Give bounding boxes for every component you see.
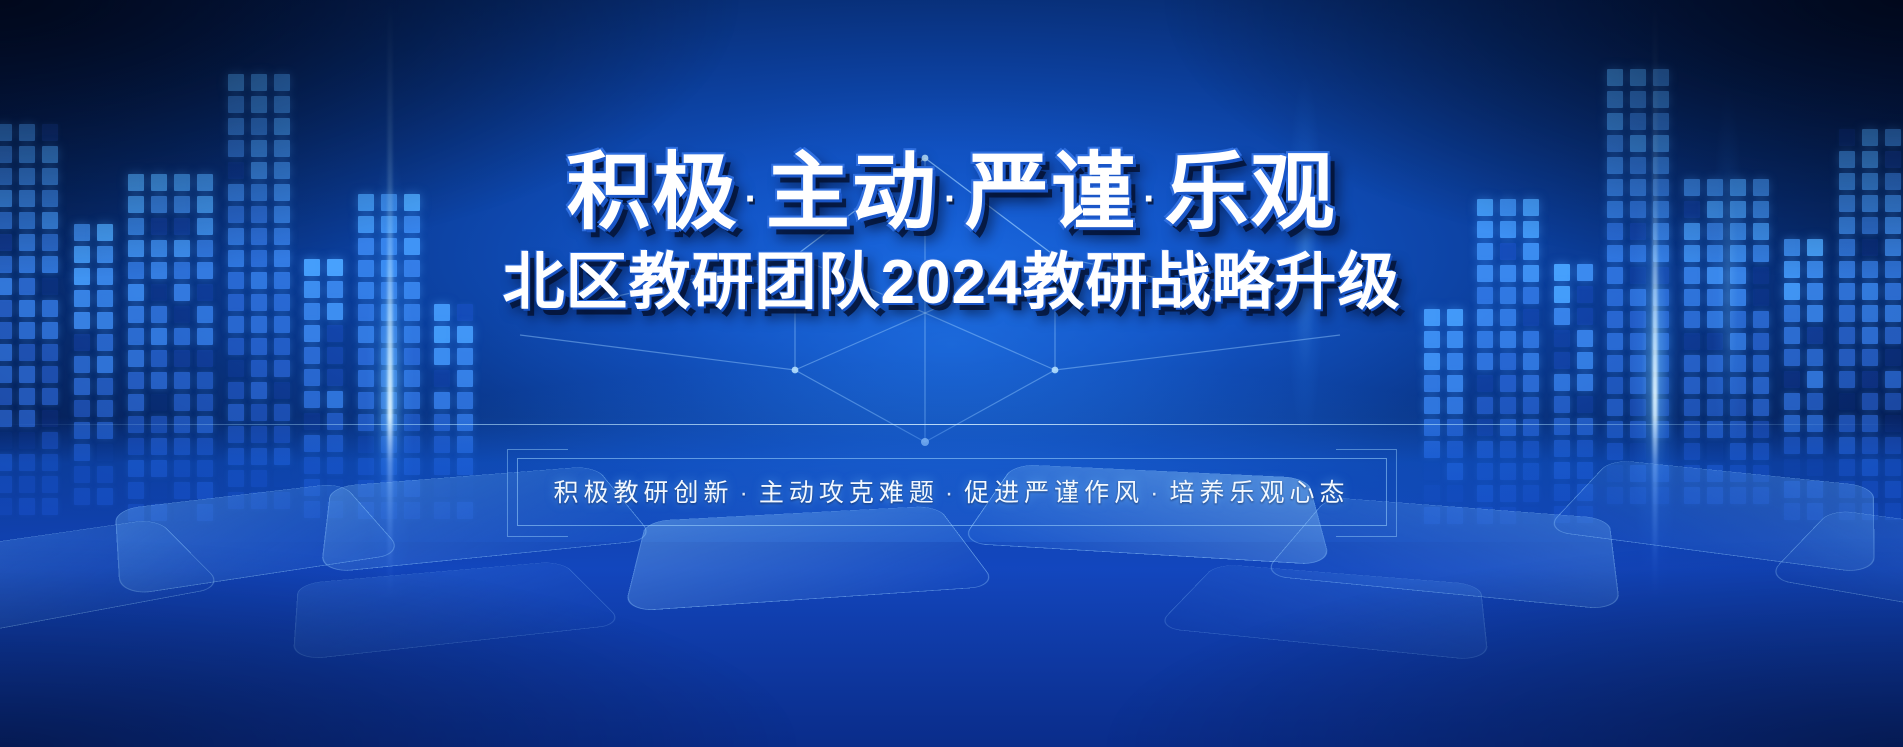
building-window <box>1653 399 1669 416</box>
building-window <box>1885 503 1901 520</box>
building-window <box>251 404 267 421</box>
building-window <box>1730 377 1746 394</box>
building-window <box>0 410 12 427</box>
building-window <box>174 416 190 433</box>
building-window <box>1607 113 1623 130</box>
building-window <box>251 74 267 91</box>
building-window <box>1477 485 1493 502</box>
building-window <box>197 394 213 411</box>
building-window <box>174 460 190 477</box>
building-window <box>1784 503 1800 520</box>
building-window <box>1523 463 1539 480</box>
building-window <box>1630 333 1646 350</box>
building-window <box>1862 503 1878 520</box>
building-window <box>1807 327 1823 344</box>
building-window <box>1862 129 1878 146</box>
building-window <box>251 360 267 377</box>
building-window <box>1862 481 1878 498</box>
building-window <box>97 356 113 373</box>
building-window <box>1730 443 1746 460</box>
building-window <box>1554 440 1570 457</box>
building-window <box>327 435 343 452</box>
building-window <box>1607 465 1623 482</box>
building-window <box>197 460 213 477</box>
building-window <box>1684 355 1700 372</box>
building-window <box>1730 399 1746 416</box>
building-window <box>19 432 35 449</box>
building-window <box>404 392 420 409</box>
building-window <box>228 448 244 465</box>
building-window <box>327 501 343 518</box>
building-window <box>151 328 167 345</box>
building-window <box>1730 487 1746 504</box>
building-window <box>1807 503 1823 520</box>
building-window <box>1653 69 1669 86</box>
building-window <box>0 432 12 449</box>
building-window <box>151 416 167 433</box>
floor-tile <box>293 561 626 661</box>
building-window <box>128 328 144 345</box>
building-window <box>381 436 397 453</box>
building-window <box>1630 113 1646 130</box>
building-window <box>1707 421 1723 438</box>
building-window <box>1500 441 1516 458</box>
building-window <box>174 482 190 499</box>
building-window <box>1653 91 1669 108</box>
building-window <box>1839 437 1855 454</box>
building-window <box>434 414 450 431</box>
building-window <box>0 498 12 515</box>
building-window <box>404 480 420 497</box>
building-window <box>304 369 320 386</box>
building-window <box>151 350 167 367</box>
building-window <box>0 454 12 471</box>
building-window <box>1554 330 1570 347</box>
building-window <box>1630 355 1646 372</box>
building-window <box>1447 485 1463 502</box>
building-window <box>274 316 290 333</box>
building-window <box>1839 415 1855 432</box>
building-window <box>1753 333 1769 350</box>
building-window <box>1424 463 1440 480</box>
building-window <box>434 370 450 387</box>
building-window <box>304 479 320 496</box>
floor-tile <box>1544 459 1875 574</box>
building-window <box>457 370 473 387</box>
building-window <box>1424 331 1440 348</box>
building-window <box>19 322 35 339</box>
building-window <box>228 338 244 355</box>
building-window <box>1862 393 1878 410</box>
building-window <box>42 344 58 361</box>
banner-stage: 积极·主动·严谨·乐观 北区教研团队2024教研战略升级 积极教研创新·主动攻克… <box>0 0 1903 747</box>
building-window <box>197 482 213 499</box>
building-window <box>1784 349 1800 366</box>
headline-separator: · <box>1137 177 1164 221</box>
building-window <box>304 501 320 518</box>
building-window <box>1500 463 1516 480</box>
building-window <box>97 466 113 483</box>
building-window <box>457 502 473 519</box>
building-window <box>1807 415 1823 432</box>
building-window <box>174 350 190 367</box>
building-window <box>1424 397 1440 414</box>
building-window <box>1577 352 1593 369</box>
building-window <box>274 338 290 355</box>
main-headline: 积极·主动·严谨·乐观 <box>566 150 1336 234</box>
building-window <box>358 326 374 343</box>
building-window <box>1477 441 1493 458</box>
building-window <box>1523 375 1539 392</box>
headline-word-1: 积极 <box>566 145 738 239</box>
building-window <box>274 470 290 487</box>
building-window <box>1753 377 1769 394</box>
building-window <box>1630 69 1646 86</box>
building-window <box>1807 437 1823 454</box>
building-window <box>151 460 167 477</box>
building-window <box>1630 377 1646 394</box>
building-window <box>274 360 290 377</box>
building-window <box>1784 437 1800 454</box>
building-window <box>251 316 267 333</box>
building-window <box>251 448 267 465</box>
building-window <box>358 414 374 431</box>
building-window <box>381 458 397 475</box>
building-window <box>1500 375 1516 392</box>
building-window <box>1807 393 1823 410</box>
building-window <box>251 382 267 399</box>
building-window <box>0 388 12 405</box>
building-window <box>404 502 420 519</box>
building-window <box>1577 374 1593 391</box>
building-window <box>1523 441 1539 458</box>
building-window <box>1607 421 1623 438</box>
building-window <box>1424 507 1440 524</box>
building-window <box>174 394 190 411</box>
building-window <box>457 326 473 343</box>
building-window <box>327 413 343 430</box>
building-window <box>228 96 244 113</box>
building-window <box>74 422 90 439</box>
tagline-separator: · <box>939 479 964 507</box>
building-window <box>274 74 290 91</box>
building-window <box>128 504 144 521</box>
building-window <box>434 436 450 453</box>
building-window <box>1807 349 1823 366</box>
building-window <box>1885 129 1901 146</box>
building-window <box>1500 419 1516 436</box>
building-window <box>304 325 320 342</box>
building-window <box>1477 463 1493 480</box>
building-window <box>1839 129 1855 146</box>
building-window <box>1577 440 1593 457</box>
building-window <box>1707 487 1723 504</box>
building-window <box>1784 459 1800 476</box>
tagline-item-3: 促进严谨作风 <box>964 479 1144 507</box>
building-window <box>1607 377 1623 394</box>
building-window <box>151 438 167 455</box>
building-window <box>1885 349 1901 366</box>
building-window <box>251 118 267 135</box>
building-window <box>42 476 58 493</box>
building-window <box>251 426 267 443</box>
building-window <box>1607 69 1623 86</box>
building-window <box>327 347 343 364</box>
tagline-item-4: 培养乐观心态 <box>1170 479 1350 507</box>
building-window <box>1554 462 1570 479</box>
building-window <box>1500 353 1516 370</box>
building-window <box>1653 443 1669 460</box>
building-window <box>1730 421 1746 438</box>
building-window <box>1500 397 1516 414</box>
building-window <box>1447 419 1463 436</box>
building-window <box>434 502 450 519</box>
building-window <box>251 96 267 113</box>
building-window <box>304 457 320 474</box>
building-window <box>42 410 58 427</box>
building-window <box>457 436 473 453</box>
building-window <box>434 326 450 343</box>
building-window <box>151 394 167 411</box>
building-window <box>1862 415 1878 432</box>
building-window <box>434 348 450 365</box>
headline-separator: · <box>938 177 965 221</box>
building-window <box>228 382 244 399</box>
building-window <box>128 372 144 389</box>
building-window <box>42 322 58 339</box>
building-window <box>1424 353 1440 370</box>
building-window <box>174 372 190 389</box>
building-block <box>1424 307 1469 522</box>
building-window <box>1807 371 1823 388</box>
building-window <box>1523 397 1539 414</box>
building-window <box>1477 507 1493 524</box>
building-window <box>1862 437 1878 454</box>
building-window <box>358 458 374 475</box>
building-window <box>228 426 244 443</box>
building-window <box>1753 355 1769 372</box>
building-window <box>197 504 213 521</box>
building-window <box>1477 353 1493 370</box>
tagline-frame: 积极教研创新·主动攻克难题·促进严谨作风·培养乐观心态 <box>516 458 1386 526</box>
building-window <box>1807 481 1823 498</box>
building-window <box>1447 463 1463 480</box>
building-window <box>1500 507 1516 524</box>
building-window <box>128 482 144 499</box>
building-window <box>151 482 167 499</box>
building-window <box>1630 487 1646 504</box>
building-window <box>1447 375 1463 392</box>
building-window <box>1885 371 1901 388</box>
building-window <box>1839 349 1855 366</box>
building-window <box>19 454 35 471</box>
building-window <box>1523 331 1539 348</box>
building-window <box>358 370 374 387</box>
building-window <box>74 356 90 373</box>
building-window <box>1730 355 1746 372</box>
building-window <box>1753 465 1769 482</box>
building-window <box>1784 327 1800 344</box>
building-window <box>42 498 58 515</box>
building-window <box>74 444 90 461</box>
building-window <box>404 458 420 475</box>
building-window <box>42 432 58 449</box>
building-window <box>1477 397 1493 414</box>
building-window <box>19 410 35 427</box>
building-window <box>1554 352 1570 369</box>
tagline-container: 积极教研创新·主动攻克难题·促进严谨作风·培养乐观心态 <box>516 458 1386 526</box>
building-window <box>74 466 90 483</box>
building-window <box>327 457 343 474</box>
building-window <box>404 326 420 343</box>
building-window <box>1477 375 1493 392</box>
building-window <box>1753 399 1769 416</box>
building-window <box>42 388 58 405</box>
building-block <box>434 302 479 522</box>
building-window <box>1684 487 1700 504</box>
building-window <box>228 74 244 91</box>
building-window <box>1447 353 1463 370</box>
building-window <box>457 414 473 431</box>
building-window <box>1447 397 1463 414</box>
building-window <box>0 366 12 383</box>
floor-tile <box>0 519 225 639</box>
building-window <box>1607 487 1623 504</box>
horizon-line <box>0 424 1903 425</box>
building-window <box>1630 399 1646 416</box>
building-window <box>404 436 420 453</box>
building-window <box>251 338 267 355</box>
building-window <box>1653 487 1669 504</box>
building-window <box>1447 331 1463 348</box>
building-window <box>1707 355 1723 372</box>
building-window <box>1885 459 1901 476</box>
building-window <box>1753 421 1769 438</box>
building-window <box>1630 443 1646 460</box>
building-window <box>1862 327 1878 344</box>
building-window <box>174 504 190 521</box>
building-window <box>97 400 113 417</box>
building-window <box>1839 327 1855 344</box>
building-window <box>19 124 35 141</box>
building-window <box>1424 485 1440 502</box>
building-window <box>74 334 90 351</box>
building-window <box>434 392 450 409</box>
building-window <box>457 458 473 475</box>
building-window <box>381 414 397 431</box>
building-window <box>1885 327 1901 344</box>
building-window <box>1477 419 1493 436</box>
building-window <box>197 328 213 345</box>
building-window <box>1607 355 1623 372</box>
floor-tile <box>1155 564 1489 662</box>
building-window <box>19 498 35 515</box>
building-window <box>1523 419 1539 436</box>
headline-word-2: 主动 <box>766 145 938 239</box>
building-window <box>1707 443 1723 460</box>
building-window <box>1784 393 1800 410</box>
building-window <box>1554 374 1570 391</box>
building-window <box>128 438 144 455</box>
building-window <box>1885 481 1901 498</box>
building-window <box>1839 371 1855 388</box>
tagline-item-1: 积极教研创新 <box>553 479 733 507</box>
headline-group: 积极·主动·严谨·乐观 北区教研团队2024教研战略升级 <box>0 150 1903 314</box>
building-window <box>1684 399 1700 416</box>
building-window <box>42 454 58 471</box>
building-window <box>97 444 113 461</box>
building-window <box>1607 443 1623 460</box>
building-window <box>1424 375 1440 392</box>
building-window <box>197 438 213 455</box>
floor-tile <box>115 483 405 597</box>
building-window <box>304 347 320 364</box>
building-window <box>1653 113 1669 130</box>
building-window <box>1630 421 1646 438</box>
building-window <box>74 400 90 417</box>
building-window <box>327 391 343 408</box>
tagline-separator: · <box>1144 479 1169 507</box>
building-window <box>228 492 244 509</box>
building-window <box>274 492 290 509</box>
tagline-separator: · <box>733 479 758 507</box>
building-window <box>274 426 290 443</box>
building-window <box>358 480 374 497</box>
building-window <box>1653 421 1669 438</box>
building-window <box>1839 503 1855 520</box>
building-window <box>0 124 12 141</box>
building-window <box>1653 377 1669 394</box>
building-window <box>381 348 397 365</box>
building-window <box>19 476 35 493</box>
building-window <box>1554 396 1570 413</box>
building-window <box>19 366 35 383</box>
building-window <box>457 480 473 497</box>
building-window <box>327 325 343 342</box>
building-window <box>1862 459 1878 476</box>
building-window <box>274 382 290 399</box>
center-glow <box>352 24 1552 664</box>
building-window <box>1885 415 1901 432</box>
building-window <box>197 350 213 367</box>
building-window <box>1523 485 1539 502</box>
building-window <box>1707 465 1723 482</box>
building-window <box>251 492 267 509</box>
building-window <box>74 488 90 505</box>
building-window <box>1577 330 1593 347</box>
building-window <box>1707 377 1723 394</box>
building-window <box>1500 331 1516 348</box>
building-window <box>42 366 58 383</box>
building-window <box>1607 91 1623 108</box>
building-window <box>197 416 213 433</box>
building-window <box>19 344 35 361</box>
building-window <box>381 480 397 497</box>
building-window <box>74 378 90 395</box>
building-window <box>0 322 12 339</box>
building-window <box>274 448 290 465</box>
building-window <box>1730 333 1746 350</box>
building-window <box>151 504 167 521</box>
headline-word-4: 乐观 <box>1165 145 1337 239</box>
building-window <box>97 334 113 351</box>
building-window <box>381 370 397 387</box>
building-window <box>1523 353 1539 370</box>
building-window <box>1684 465 1700 482</box>
building-window <box>0 476 12 493</box>
building-window <box>358 392 374 409</box>
building-window <box>1684 443 1700 460</box>
